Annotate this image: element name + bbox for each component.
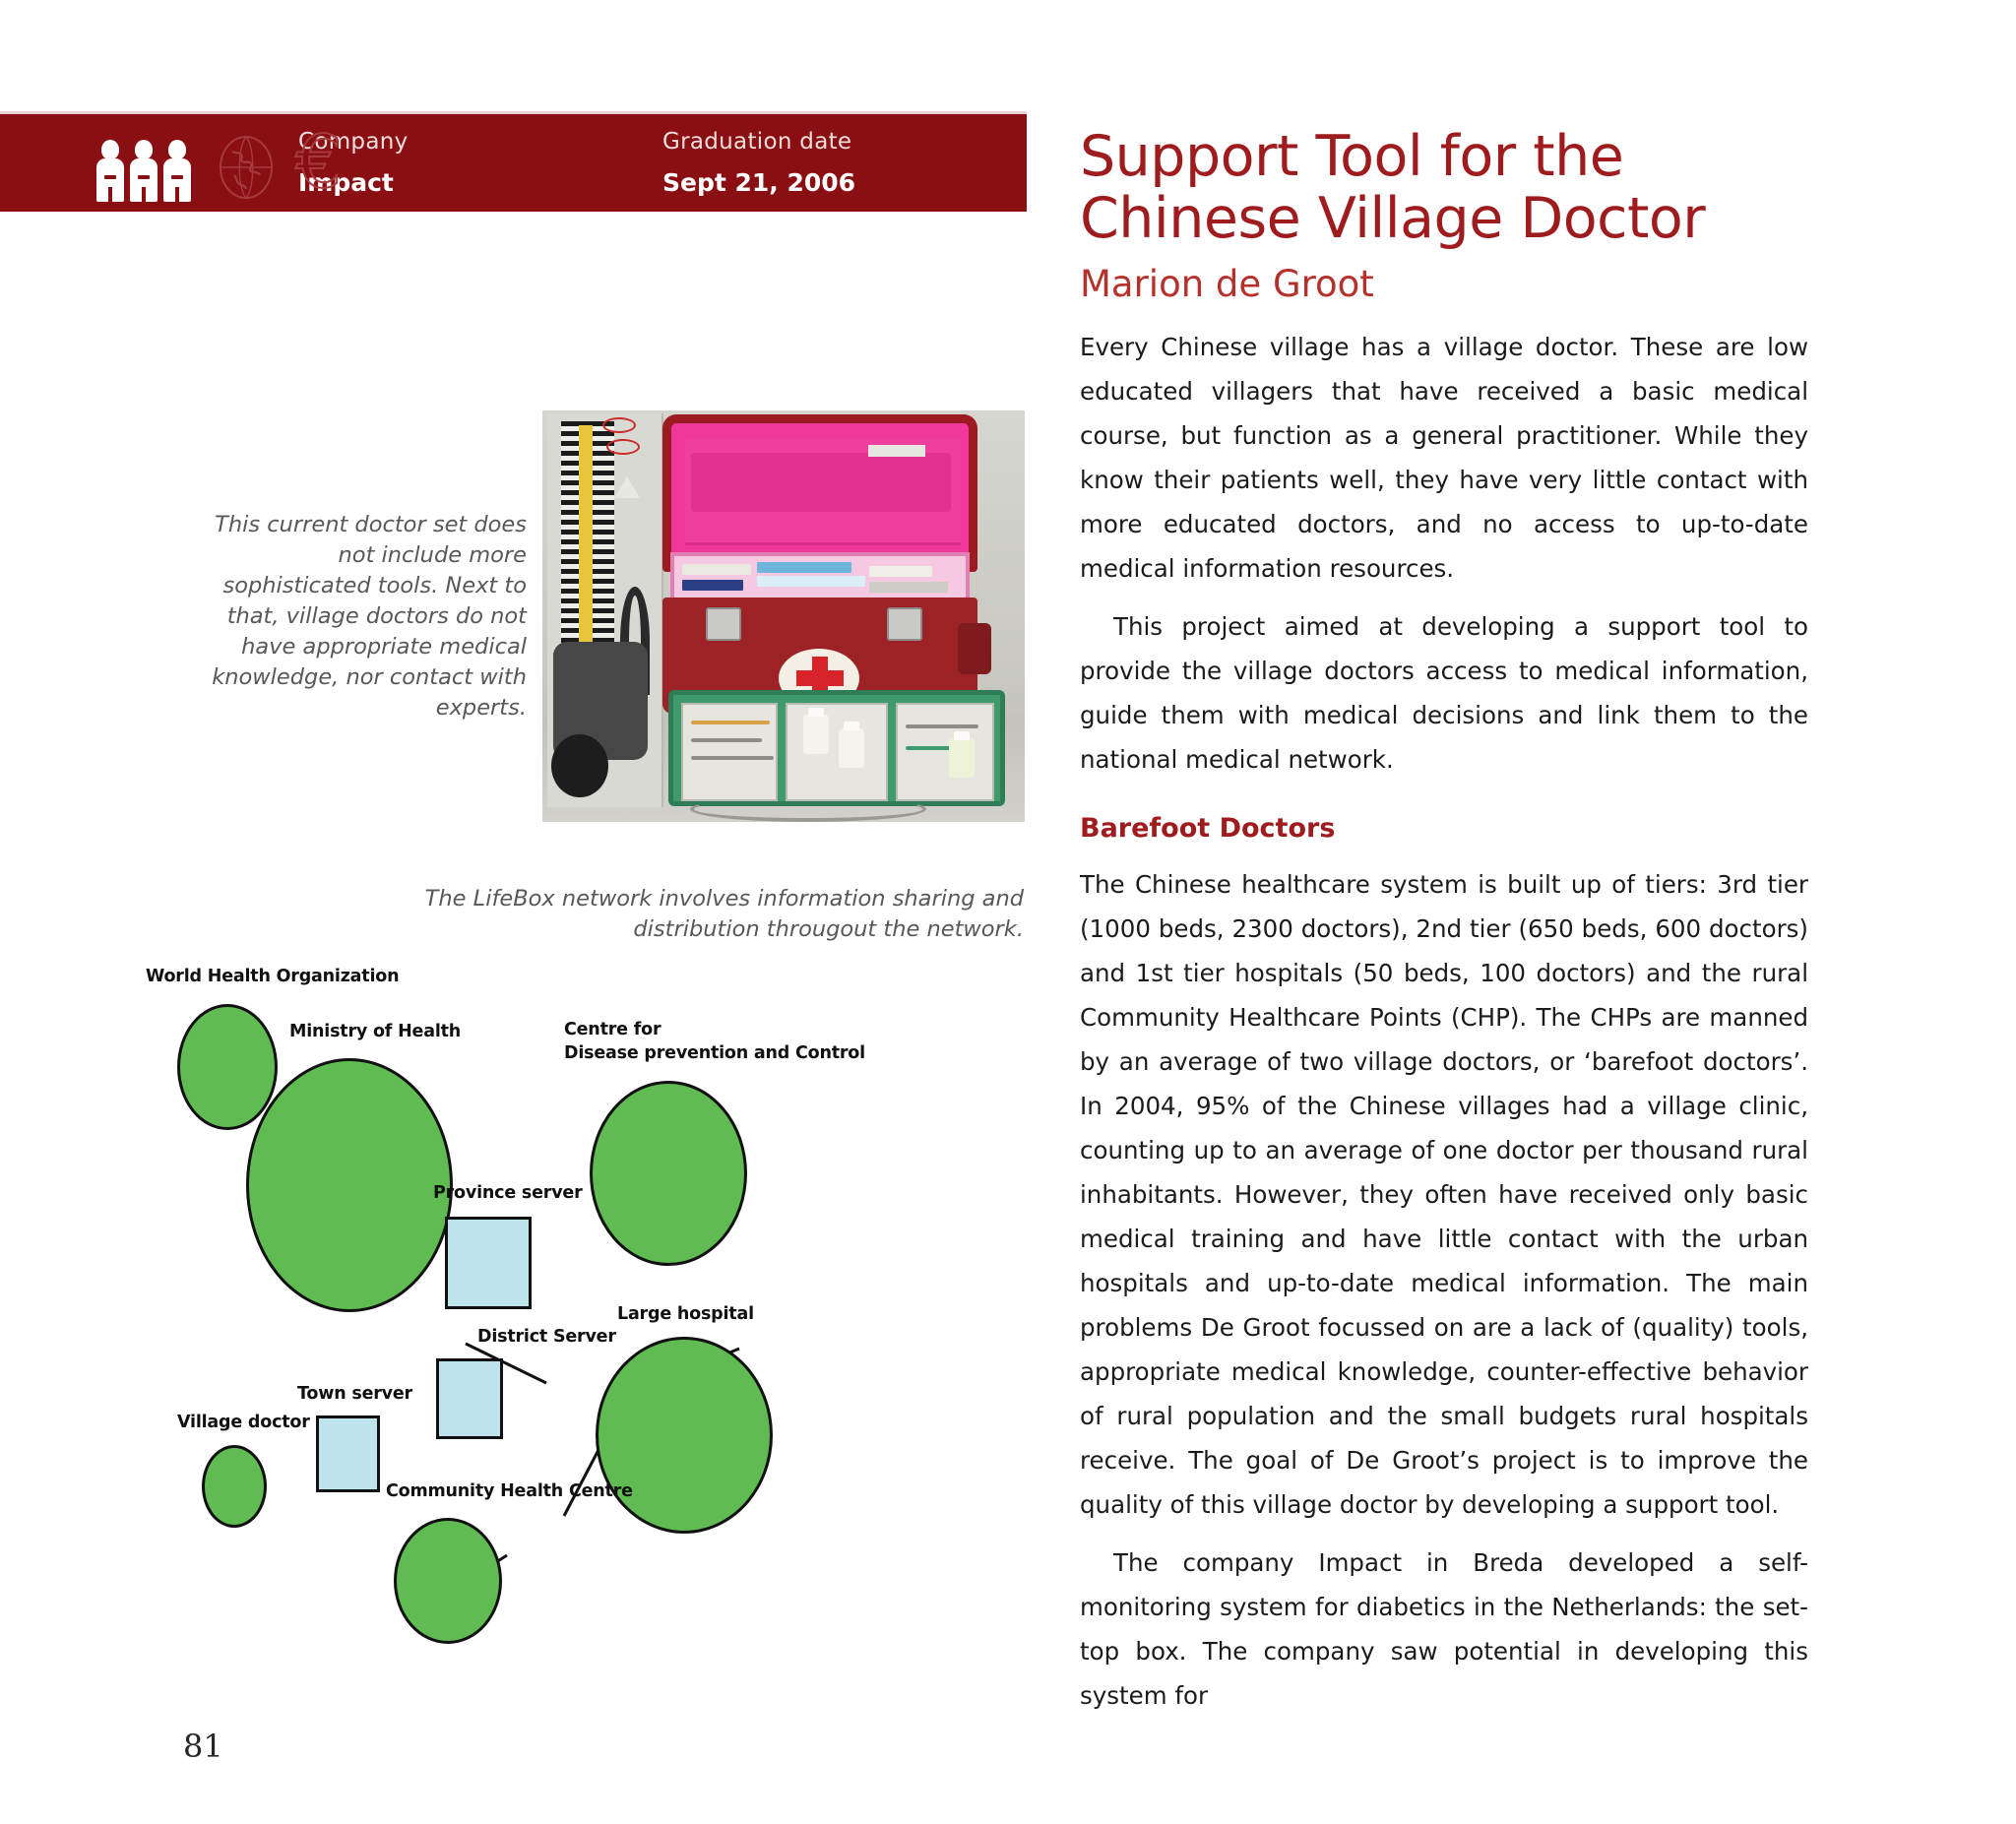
stethoscope [690,796,926,822]
photo-caption: This current doctor set does not include… [212,510,527,723]
article-paragraph: Every Chinese village has a village doct… [1080,325,1808,591]
page-number: 81 [183,1728,223,1765]
figure-caption: The LifeBox network involves information… [423,884,1024,945]
node-village-doctor [202,1445,267,1528]
node-district-server [436,1358,503,1439]
diagram-label-who: World Health Organization [146,967,399,986]
document-page: € Company Impact Graduation date Sept 21… [0,0,2016,1824]
globe-icon [215,136,278,199]
graduation-date-value: Sept 21, 2006 [662,168,1027,197]
doctor-kit-photo [542,410,1025,822]
diagram-label-disease-prevention: Disease prevention and Control [564,1043,865,1063]
section-heading-barefoot-doctors: Barefoot Doctors [1080,809,1808,849]
diagram-label-town-server: Town server [297,1384,412,1404]
red-medical-case [662,414,977,710]
article-column: Support Tool for the Chinese Village Doc… [1080,126,1808,1718]
header-bar: € Company Impact Graduation date Sept 21… [0,111,1027,212]
node-province-server [445,1217,532,1309]
graduation-date-label: Graduation date [662,129,1027,155]
header-icon-group: € [0,114,210,212]
article-paragraph: This project aimed at developing a suppo… [1080,604,1808,782]
euro-icon: € [295,132,356,201]
left-column: This current doctor set does not include… [0,226,1043,1762]
article-author: Marion de Groot [1080,258,1808,311]
article-paragraph: The company Impact in Breda developed a … [1080,1541,1808,1718]
people-icon [96,140,191,201]
title-line-1: Support Tool for the [1080,124,1623,189]
node-ministry-of-health [246,1058,453,1312]
diagram-label-ministry-of-health: Ministry of Health [289,1022,461,1041]
page-title: Support Tool for the Chinese Village Doc… [1080,126,1808,250]
diagram-label-district-server: District Server [477,1327,616,1347]
node-world-health-organization [177,1004,278,1130]
node-community-health-centre [394,1518,502,1644]
node-town-server [316,1415,380,1492]
node-centre-disease-prevention-control [590,1081,747,1266]
diagram-label-centre-for: Centre for [564,1020,661,1039]
diagram-label-community-health-centre: Community Health Centre [386,1481,633,1501]
title-line-2: Chinese Village Doctor [1080,186,1705,251]
sphygmomanometer [547,413,663,807]
diagram-label-province-server: Province server [433,1183,583,1203]
instrument-tray [668,690,1005,806]
diagram-label-large-hospital: Large hospital [617,1304,754,1324]
article-paragraph: The Chinese healthcare system is built u… [1080,862,1808,1527]
lifebox-network-diagram: World Health Organization Ministry of He… [153,965,1029,1575]
diagram-label-village-doctor: Village doctor [177,1413,310,1432]
node-large-hospital [596,1337,773,1534]
header-field-graduation-date: Graduation date Sept 21, 2006 [662,129,1027,197]
